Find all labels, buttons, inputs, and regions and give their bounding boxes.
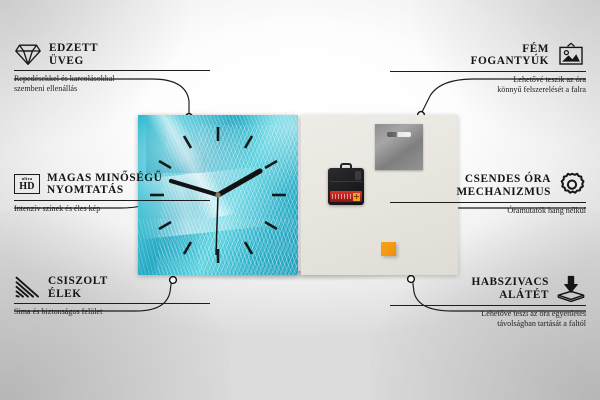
quartz-mechanism [328, 168, 364, 205]
hour-hand [218, 171, 260, 195]
hanger-slot [387, 132, 411, 137]
feature-magas-minosegu-nyomtatas: ultra HD MAGAS MINŐSÉGŰ NYOMTATÁS Intenz… [14, 172, 210, 214]
gear-icon [558, 172, 586, 199]
mechanism-seam [330, 181, 362, 182]
diamond-icon [14, 42, 42, 67]
feature-edzett-uveg: EDZETT ÜVEG Repedésekkel és karcolásokka… [14, 42, 210, 95]
feature-description: Repedésekkel és karcolásokkal szembeni e… [14, 71, 210, 95]
feature-heading: CSISZOLT ÉLEK [14, 275, 210, 303]
feature-title: FÉM FOGANTYÚK [471, 43, 549, 68]
foam-pad [381, 242, 396, 256]
feature-heading: ultra HD MAGAS MINŐSÉGŰ NYOMTATÁS [14, 172, 210, 200]
infographic-canvas: EDZETT ÜVEG Repedésekkel és karcolásokka… [0, 0, 600, 400]
clock-center-cap [215, 192, 220, 197]
metal-hanger-plate [375, 124, 423, 170]
picture-hanger-icon [556, 42, 586, 68]
feature-habszivacs-alatet: HABSZIVACS ALÁTÉT Lehetővé teszi az óra … [390, 275, 586, 330]
feature-title: MAGAS MINŐSÉGŰ NYOMTATÁS [47, 172, 162, 197]
feature-heading: HABSZIVACS ALÁTÉT [390, 275, 586, 305]
mechanism-hook [340, 163, 352, 171]
feature-description: Intenzív színek és éles kép [14, 201, 210, 214]
beveled-edge-icon [14, 275, 41, 300]
second-hand [216, 195, 218, 255]
feature-csendes-ora-mechanizmus: CSENDES ÓRA MECHANIZMUS Óramutatók hang … [390, 172, 586, 216]
feature-heading: CSENDES ÓRA MECHANIZMUS [390, 172, 586, 202]
ultra-hd-badge-icon: ultra HD [14, 174, 40, 194]
battery-label-stripes [332, 194, 352, 199]
feature-title: HABSZIVACS ALÁTÉT [472, 276, 550, 301]
feature-description: Lehetővé teszik az óra könnyű felszerelé… [390, 72, 586, 96]
feature-csiszolt-elek: CSISZOLT ÉLEK Sima és biztonságos felüle… [14, 275, 210, 317]
feature-description: Sima és biztonságos felület [14, 304, 210, 317]
mechanism-knob [355, 171, 361, 180]
press-down-pad-icon [556, 275, 586, 302]
feature-fem-fogantyuk: FÉM FOGANTYÚK Lehetővé teszik az óra kön… [390, 42, 586, 96]
feature-title: CSENDES ÓRA MECHANIZMUS [456, 173, 551, 198]
ultra-hd-badge-main-label: HD [19, 182, 34, 192]
feature-title: CSISZOLT ÉLEK [48, 275, 108, 300]
feature-description: Óramutatók hang nélkül [390, 203, 586, 216]
feature-heading: FÉM FOGANTYÚK [390, 42, 586, 71]
battery-plus-terminal [353, 193, 360, 201]
feature-title: EDZETT ÜVEG [49, 42, 98, 67]
feature-description: Lehetővé teszi az óra egyenletes távolsá… [390, 306, 586, 330]
feature-heading: EDZETT ÜVEG [14, 42, 210, 70]
battery [330, 191, 362, 202]
